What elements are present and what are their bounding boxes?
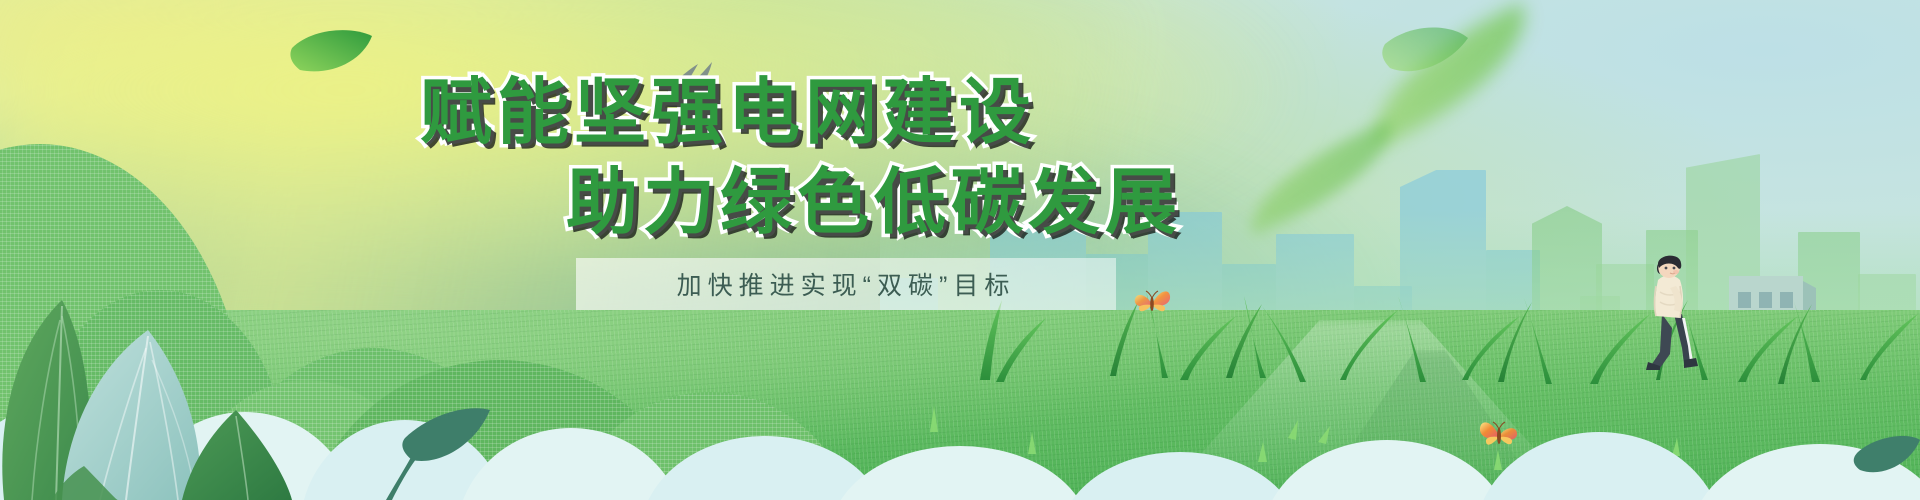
title-line-2: 助力绿色低碳发展: [566, 162, 1182, 244]
subtitle-text: 加快推进实现“双碳”目标: [576, 258, 1116, 310]
walking-person-figure: [1638, 248, 1708, 370]
butterfly-icon-1: [1133, 288, 1171, 320]
eco-power-grid-banner: 赋能坚强电网建设 助力绿色低碳发展 加快推进实现“双碳”目标: [0, 0, 1920, 500]
title-line-1: 赋能坚强电网建设: [420, 72, 1036, 154]
butterfly-icon-2: [1478, 418, 1520, 454]
